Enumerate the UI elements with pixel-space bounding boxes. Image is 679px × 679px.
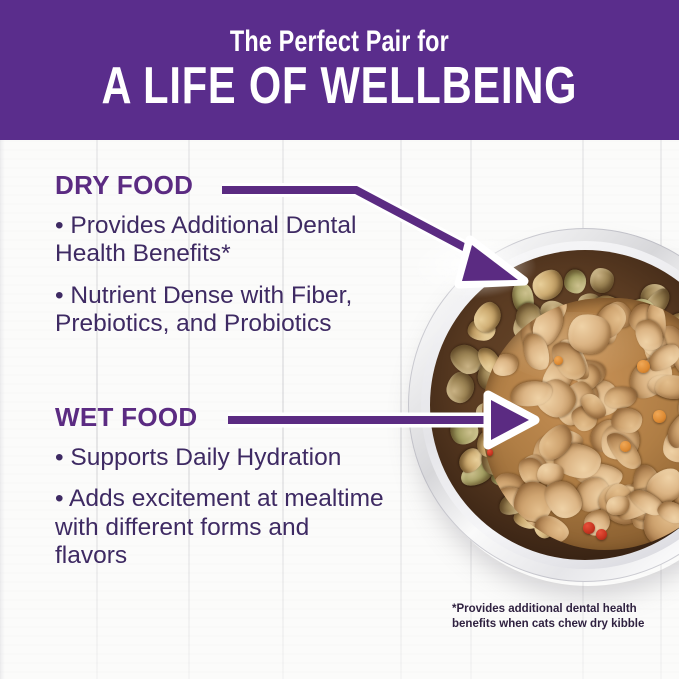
bullet-marker-icon: • (55, 444, 64, 471)
wet-food-bullet-1-text: Supports Daily Hydration (70, 444, 341, 471)
bullet-marker-icon: • (55, 212, 64, 239)
bullet-marker-icon: • (55, 485, 64, 512)
wet-food-heading: WET FOOD (55, 404, 385, 430)
dry-food-heading: DRY FOOD (55, 172, 385, 198)
promo-graphic: The Perfect Pair for A LIFE OF WELLBEING (0, 0, 679, 679)
dry-food-bullet-1-text: Provides Additional Dental Health Benefi… (55, 212, 356, 267)
wet-food-bullet-2-text: Adds excitement at mealtime with differe… (55, 485, 384, 569)
dry-food-bullet-1: • Provides Additional Dental Health Bene… (55, 212, 385, 269)
dry-food-bullet-2: • Nutrient Dense with Fiber, Prebiotics,… (55, 282, 385, 339)
wet-food-section: WET FOOD • Supports Daily Hydration • Ad… (55, 404, 385, 584)
wet-food-bullet-1: • Supports Daily Hydration (55, 444, 385, 472)
dry-food-bullet-2-text: Nutrient Dense with Fiber, Prebiotics, a… (55, 282, 352, 337)
footnote-disclaimer: *Provides additional dental health benef… (452, 602, 679, 632)
wet-food-bullet-2: • Adds excitement at mealtime with diffe… (55, 485, 385, 570)
dry-food-section: DRY FOOD • Provides Additional Dental He… (55, 172, 385, 352)
bullet-marker-icon: • (55, 282, 64, 309)
